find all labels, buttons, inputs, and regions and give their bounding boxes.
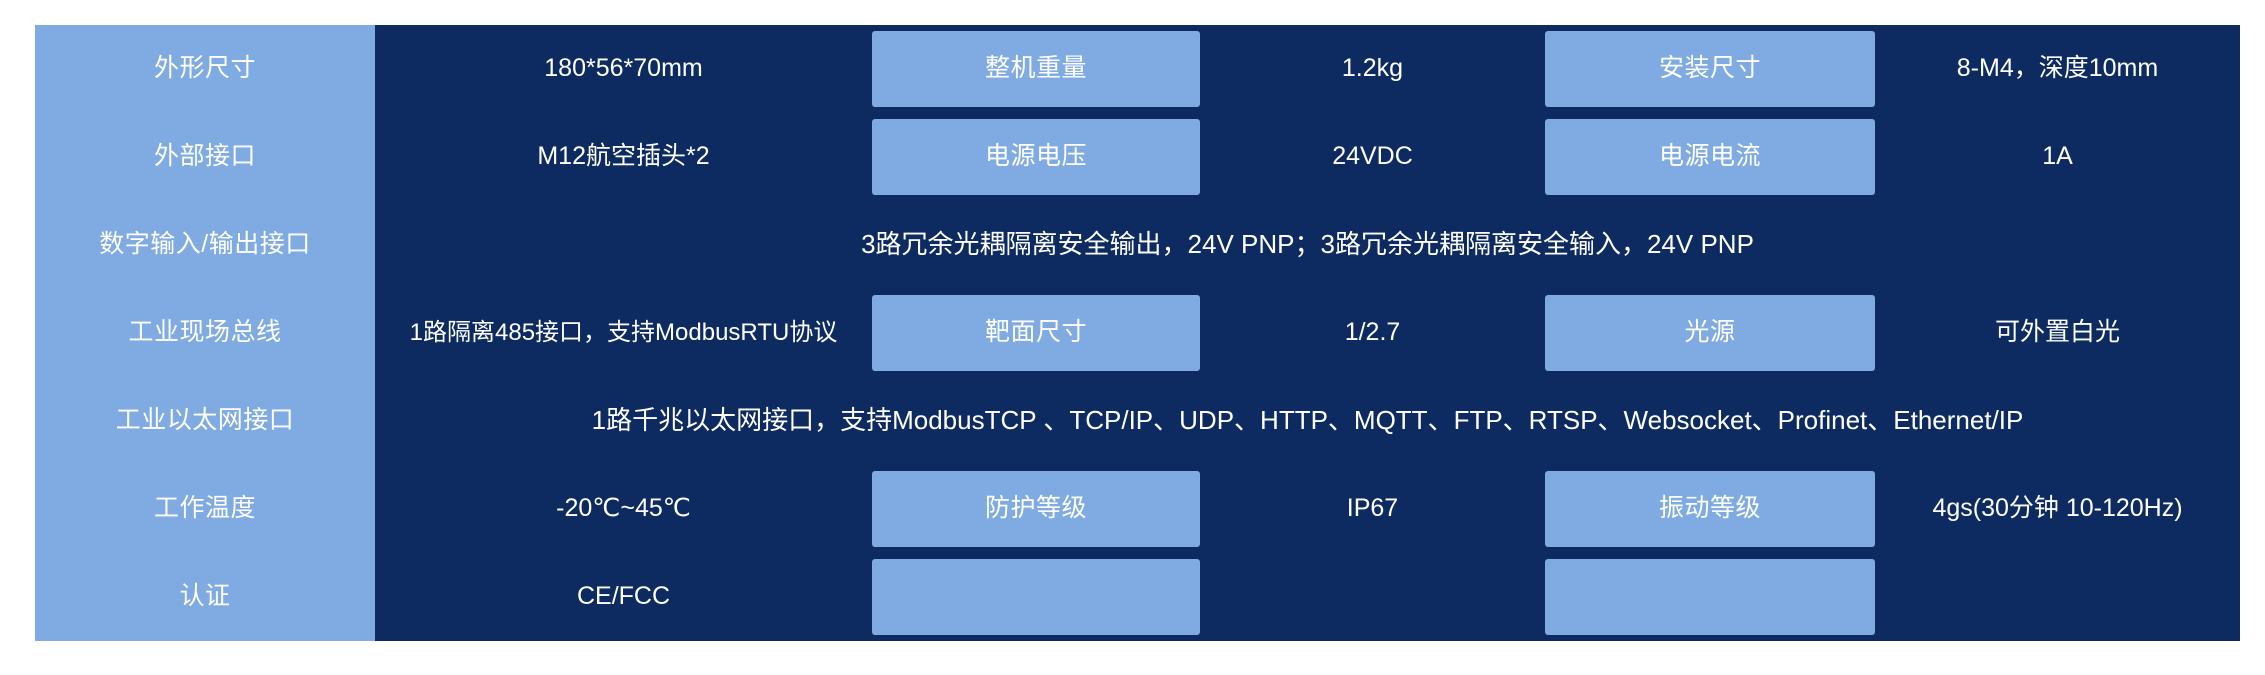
- spec-label: 防护等级: [872, 471, 1200, 547]
- spec-label: 整机重量: [872, 31, 1200, 107]
- spec-value: 24VDC: [1200, 113, 1545, 201]
- spec-value-merged: 3路冗余光耦隔离安全输出，24V PNP；3路冗余光耦隔离安全输入，24V PN…: [375, 201, 2240, 289]
- spec-label: 电源电压: [872, 119, 1200, 195]
- spec-value: -20℃~45℃: [375, 465, 872, 553]
- spec-label: [872, 559, 1200, 635]
- table-row: 数字输入/输出接口 3路冗余光耦隔离安全输出，24V PNP；3路冗余光耦隔离安…: [35, 201, 2240, 289]
- table-row: 工业现场总线 1路隔离485接口，支持ModbusRTU协议 靶面尺寸 1/2.…: [35, 289, 2240, 377]
- spec-value: [1875, 553, 2240, 641]
- spec-label: 安装尺寸: [1545, 31, 1875, 107]
- spec-label: 工业以太网接口: [35, 377, 375, 465]
- table-row: 外形尺寸 180*56*70mm 整机重量 1.2kg 安装尺寸 8-M4，深度…: [35, 25, 2240, 113]
- table-row: 工业以太网接口 1路千兆以太网接口，支持ModbusTCP 、TCP/IP、UD…: [35, 377, 2240, 465]
- spec-label: 外部接口: [35, 113, 375, 201]
- spec-label: 光源: [1545, 295, 1875, 371]
- spec-value: M12航空插头*2: [375, 113, 872, 201]
- spec-label: 电源电流: [1545, 119, 1875, 195]
- spec-value: [1200, 553, 1545, 641]
- spec-value: 1/2.7: [1200, 289, 1545, 377]
- spec-label: 工业现场总线: [35, 289, 375, 377]
- spec-label: 工作温度: [35, 465, 375, 553]
- spec-value: 1A: [1875, 113, 2240, 201]
- spec-value: 1.2kg: [1200, 25, 1545, 113]
- spec-value: IP67: [1200, 465, 1545, 553]
- spec-label: 靶面尺寸: [872, 295, 1200, 371]
- table-row: 工作温度 -20℃~45℃ 防护等级 IP67 振动等级 4gs(30分钟 10…: [35, 465, 2240, 553]
- spec-label: 外形尺寸: [35, 25, 375, 113]
- spec-value: 8-M4，深度10mm: [1875, 25, 2240, 113]
- spec-value: 1路隔离485接口，支持ModbusRTU协议: [375, 289, 872, 377]
- spec-value: 可外置白光: [1875, 289, 2240, 377]
- spec-value: 180*56*70mm: [375, 25, 872, 113]
- table-row: 外部接口 M12航空插头*2 电源电压 24VDC 电源电流 1A: [35, 113, 2240, 201]
- spec-label: 振动等级: [1545, 471, 1875, 547]
- spec-value-merged: 1路千兆以太网接口，支持ModbusTCP 、TCP/IP、UDP、HTTP、M…: [375, 377, 2240, 465]
- spec-value: 4gs(30分钟 10-120Hz): [1875, 465, 2240, 553]
- spec-label: [1545, 559, 1875, 635]
- spec-label: 数字输入/输出接口: [35, 201, 375, 289]
- table-row: 认证 CE/FCC: [35, 553, 2240, 641]
- product-specifications-table: 外形尺寸 180*56*70mm 整机重量 1.2kg 安装尺寸 8-M4，深度…: [35, 25, 2240, 641]
- spec-value: CE/FCC: [375, 553, 872, 641]
- spec-label: 认证: [35, 553, 375, 641]
